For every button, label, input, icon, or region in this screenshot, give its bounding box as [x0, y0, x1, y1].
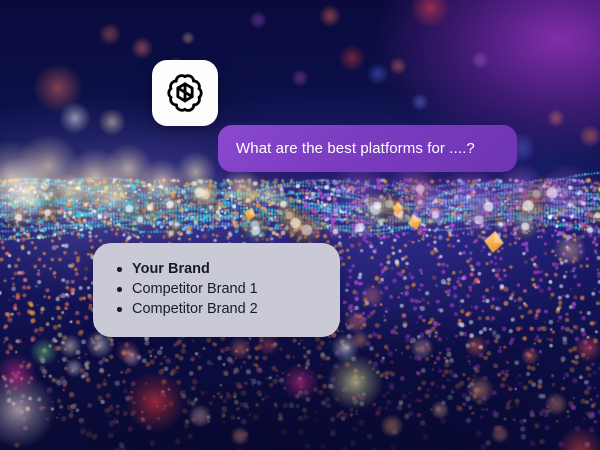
openai-logo-icon: [163, 71, 207, 115]
openai-logo-tile: [152, 60, 218, 126]
prompt-bubble-text: What are the best platforms for ....?: [218, 140, 475, 157]
answer-card: Your Brand Competitor Brand 1 Competitor…: [93, 243, 340, 337]
list-item: Competitor Brand 1: [117, 279, 340, 299]
scene: What are the best platforms for ....? Yo…: [0, 0, 600, 450]
bokeh-layer: [0, 0, 600, 450]
prompt-bubble: What are the best platforms for ....?: [218, 125, 517, 172]
brand-list: Your Brand Competitor Brand 1 Competitor…: [93, 243, 340, 319]
list-item: Your Brand: [117, 259, 340, 279]
list-item: Competitor Brand 2: [117, 299, 340, 319]
